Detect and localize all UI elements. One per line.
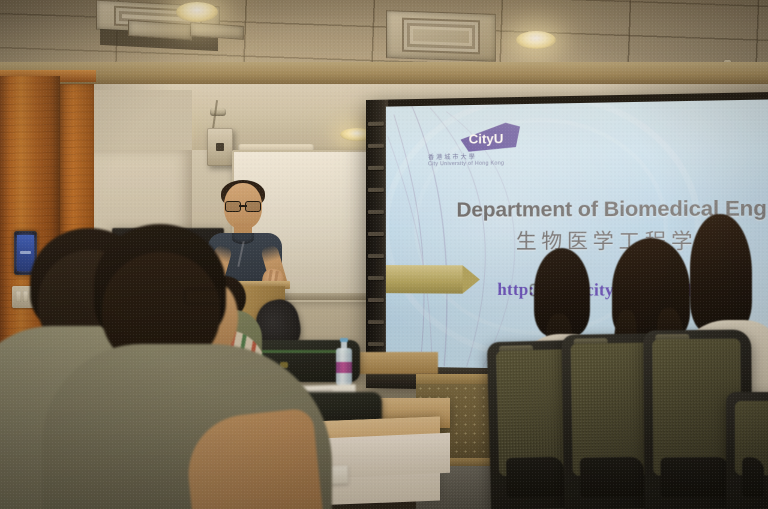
hvac-diffuser-2 [386, 10, 496, 62]
screen-left-rail [366, 100, 388, 389]
glasses-icon [530, 284, 546, 296]
ceiling-downlight-2 [516, 31, 556, 49]
ceiling-sensor-1 [210, 108, 226, 116]
cityu-logo: CityU 香港城市大學 City University of Hong Kon… [428, 120, 539, 174]
lecture-room-photo: CityU 香港城市大學 City University of Hong Kon… [0, 0, 768, 509]
student-with-glasses [72, 224, 302, 509]
attendee-hair [690, 214, 752, 332]
slide-gold-banner [386, 265, 463, 294]
glasses-icon [184, 288, 222, 305]
cityu-logo-english: City University of Hong Kong [428, 160, 504, 167]
glasses-icon [225, 201, 261, 210]
cityu-logo-mark: CityU [458, 120, 522, 153]
mesh-office-chair-4[interactable] [726, 392, 768, 509]
ceiling-trim-band [0, 62, 768, 84]
water-bottle [336, 338, 352, 386]
wall-speaker [207, 128, 233, 166]
svg-text:CityU: CityU [469, 131, 504, 147]
ceiling-downlight-1 [176, 2, 218, 22]
